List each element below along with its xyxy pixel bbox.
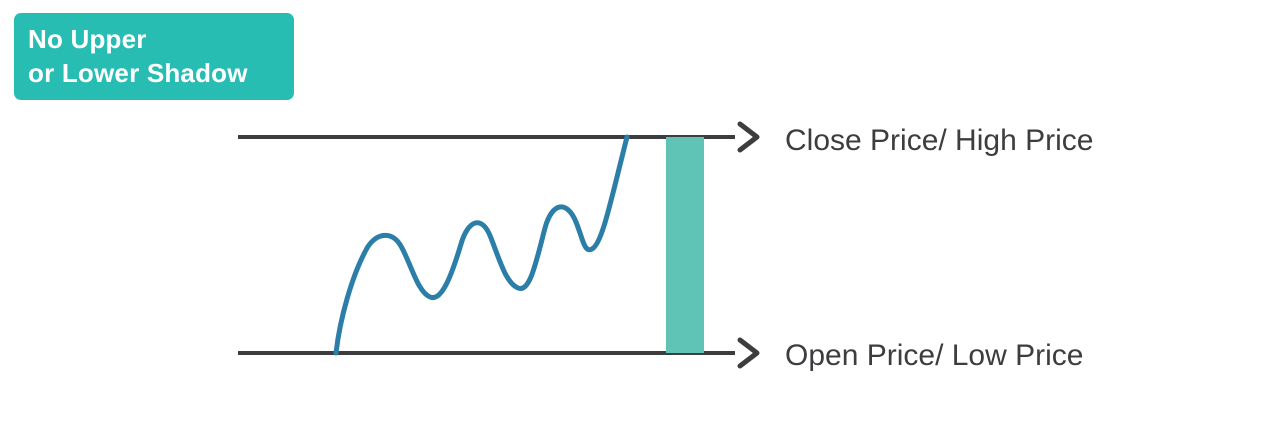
close-price-arrow-icon <box>740 124 757 150</box>
candle-body <box>666 137 704 353</box>
diagram-canvas: No Upper or Lower Shadow Close Price/ Hi… <box>0 0 1281 427</box>
close-price-label: Close Price/ High Price <box>785 124 1093 158</box>
price-wave-line <box>336 137 627 353</box>
candlestick-diagram <box>0 0 1281 427</box>
open-price-arrow-icon <box>740 340 757 366</box>
open-price-label: Open Price/ Low Price <box>785 339 1083 373</box>
